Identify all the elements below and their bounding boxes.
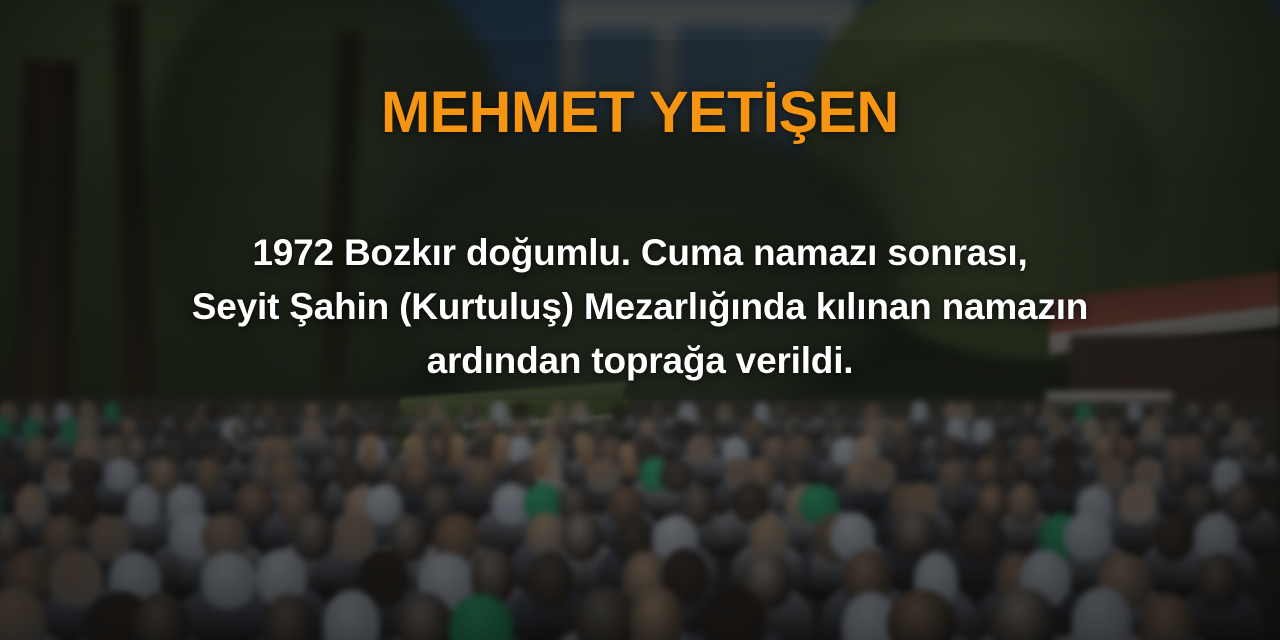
text-overlay: MEHMET YETİŞEN 1972 Bozkır doğumlu. Cuma… (0, 0, 1280, 640)
obituary-description: 1972 Bozkır doğumlu. Cuma namazı sonrası… (110, 226, 1170, 388)
page-title: MEHMET YETİŞEN (381, 84, 899, 142)
description-line-1: 1972 Bozkır doğumlu. Cuma namazı sonrası… (110, 226, 1170, 280)
description-line-2: Seyit Şahin (Kurtuluş) Mezarlığında kılı… (110, 280, 1170, 334)
description-line-3: ardından toprağa verildi. (110, 334, 1170, 388)
obituary-card: KONYA BÜYÜKŞEHİR BELEDİYESİ KONYA BÜYÜKŞ… (0, 0, 1280, 640)
